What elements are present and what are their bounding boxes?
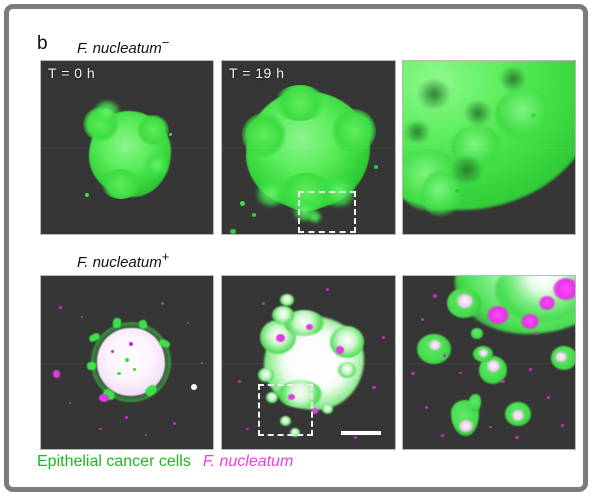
condition-label-positive-text: F. nucleatum bbox=[77, 254, 162, 271]
bacteria-speck bbox=[547, 396, 550, 399]
bacteria-cluster bbox=[487, 306, 509, 324]
invading-cell bbox=[447, 288, 481, 318]
detached-cell bbox=[322, 404, 333, 414]
bacteria-speck bbox=[382, 336, 385, 339]
fluorescent-speck bbox=[85, 193, 89, 197]
fluorescent-speck bbox=[455, 189, 460, 193]
condition-label-negative-sup: − bbox=[162, 35, 170, 50]
invading-cell bbox=[505, 402, 531, 426]
timestamp-row1-t19: T = 19 h bbox=[229, 65, 285, 81]
invading-cell bbox=[473, 346, 493, 362]
bacteria-speck bbox=[433, 294, 437, 298]
bacteria-speck bbox=[561, 424, 564, 427]
bacteria-speck bbox=[354, 436, 357, 439]
bacteria-cluster bbox=[306, 324, 313, 330]
invading-cell bbox=[471, 328, 483, 339]
fluorescent-speck bbox=[240, 201, 245, 206]
legend-magenta-label: F. nucleatum bbox=[203, 453, 293, 470]
bacteria-speck bbox=[187, 322, 189, 324]
fluorescent-speck bbox=[368, 121, 371, 124]
fluorescent-speck bbox=[252, 213, 256, 217]
bacteria-speck bbox=[238, 380, 241, 383]
zoom-dark-gap bbox=[499, 67, 527, 91]
spheroid-edge bbox=[256, 179, 286, 207]
condition-label-positive-sup: + bbox=[162, 249, 170, 264]
bacteria-cluster bbox=[336, 346, 344, 354]
bacteria-speck bbox=[411, 372, 415, 375]
figure-frame: b F. nucleatum− T = 0 h T = 19 h bbox=[4, 4, 588, 492]
aggregate-lobe bbox=[272, 306, 294, 324]
spheroid-lobe bbox=[101, 169, 141, 199]
cell-nucleus bbox=[429, 340, 441, 350]
detached-cell bbox=[338, 362, 356, 378]
bacteria-speck bbox=[173, 422, 176, 425]
bacteria-speck bbox=[425, 406, 428, 409]
condition-label-negative-text: F. nucleatum bbox=[77, 40, 162, 57]
bacteria-cluster bbox=[99, 394, 109, 402]
bacteria-cluster bbox=[553, 278, 576, 300]
bacteria-speck bbox=[99, 428, 102, 430]
figure-legend: Epithelial cancer cellsF. nucleatum bbox=[37, 453, 293, 471]
zoom-dark-gap bbox=[403, 121, 431, 143]
fluorescent-speck bbox=[117, 372, 121, 375]
condition-label-positive: F. nucleatum+ bbox=[77, 249, 169, 271]
bacteria-speck bbox=[489, 426, 492, 428]
zoom-dark-gap bbox=[417, 79, 451, 109]
fluorescent-speck bbox=[133, 368, 136, 371]
spheroid-edge bbox=[145, 153, 169, 177]
cell-nucleus bbox=[479, 349, 488, 357]
fluorescent-speck bbox=[374, 165, 378, 169]
debris-particle bbox=[191, 384, 197, 390]
legend-green-label: Epithelial cancer cells bbox=[37, 453, 191, 470]
bacteria-cluster bbox=[539, 296, 555, 310]
bacteria-speck bbox=[501, 380, 505, 383]
bacteria-speck bbox=[59, 306, 62, 309]
bacteria-speck bbox=[515, 436, 519, 439]
cell-nucleus bbox=[487, 360, 500, 372]
bacteria-speck bbox=[326, 288, 329, 291]
zoom-dark-gap bbox=[449, 157, 485, 183]
micrograph-row1-t19[interactable]: T = 19 h bbox=[221, 60, 396, 235]
roi-box-row2 bbox=[258, 384, 313, 436]
bacteria-speck bbox=[443, 354, 446, 357]
bacteria-cluster bbox=[521, 314, 539, 329]
spheroid-edge bbox=[93, 101, 121, 123]
condition-label-negative: F. nucleatum− bbox=[77, 35, 169, 57]
bacteria-cluster bbox=[276, 334, 285, 342]
bacteria-speck bbox=[201, 362, 203, 364]
bacteria-speck bbox=[69, 402, 71, 404]
bacteria-speck bbox=[145, 434, 147, 436]
cell-nucleus bbox=[555, 352, 567, 362]
cell-nucleus bbox=[459, 420, 473, 432]
scale-bar bbox=[341, 431, 381, 435]
bacteria-speck bbox=[161, 302, 164, 305]
micrograph-row2-t0[interactable] bbox=[40, 275, 214, 450]
bacteria-speck bbox=[372, 386, 376, 389]
cell-protrusion bbox=[469, 394, 481, 412]
bacteria-speck bbox=[129, 342, 133, 346]
zoom-lobe bbox=[495, 89, 555, 141]
cell-nucleus bbox=[457, 294, 473, 308]
figure-panel-letter: b bbox=[37, 33, 48, 55]
bacteria-speck bbox=[441, 434, 444, 437]
bacteria-speck bbox=[421, 318, 424, 321]
bacteria-speck bbox=[262, 302, 265, 305]
fluorescent-speck bbox=[125, 358, 129, 362]
bacteria-speck bbox=[111, 350, 114, 353]
fluorescent-speck bbox=[511, 157, 517, 162]
spheroid-lobe bbox=[274, 85, 326, 121]
invading-cell bbox=[417, 334, 451, 364]
bacteria-speck bbox=[535, 332, 538, 335]
aggregate-lobe bbox=[330, 326, 364, 358]
bacteria-cluster bbox=[53, 370, 60, 378]
micrograph-row2-t19[interactable] bbox=[221, 275, 396, 450]
spheroid-lobe bbox=[137, 115, 169, 145]
spheroid-lobe bbox=[242, 113, 286, 157]
timestamp-row1-t0: T = 0 h bbox=[48, 65, 95, 81]
bacteria-speck bbox=[125, 416, 128, 419]
fluorescent-speck bbox=[230, 229, 236, 234]
cell-nucleus bbox=[512, 410, 524, 421]
roi-box-row1 bbox=[298, 191, 356, 233]
bacteria-speck bbox=[246, 428, 249, 430]
fluorescent-speck bbox=[531, 113, 536, 118]
detached-cell bbox=[258, 368, 274, 382]
bacteria-speck bbox=[459, 372, 462, 374]
invading-cell bbox=[551, 346, 576, 370]
bacteria-speck bbox=[81, 316, 83, 318]
protrusion bbox=[87, 362, 96, 370]
zoom-dark-gap bbox=[463, 101, 493, 125]
micrograph-row1-t0[interactable]: T = 0 h bbox=[40, 60, 214, 235]
detached-cell bbox=[280, 294, 294, 306]
spheroid-lobe bbox=[332, 109, 376, 153]
bacteria-speck bbox=[529, 368, 532, 371]
fluorescent-speck bbox=[169, 133, 172, 136]
micrograph-row1-zoom[interactable] bbox=[402, 60, 576, 235]
micrograph-row2-zoom[interactable] bbox=[402, 275, 576, 450]
